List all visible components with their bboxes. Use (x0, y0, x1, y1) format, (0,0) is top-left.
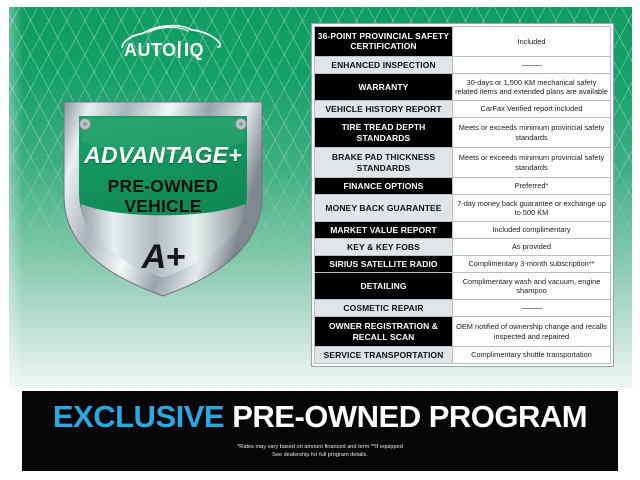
banner-title-highlight: EXCLUSIVE (53, 399, 224, 434)
feature-value: ——— (453, 56, 611, 73)
shield-subtitle-line1: PRE-OWNED (48, 176, 278, 196)
promo-flyer: AUTO IQ (0, 0, 640, 480)
table-row: 36-POINT PROVINCIAL SAFETY CERTIFICATION… (315, 27, 611, 57)
shield-title: ADVANTAGE+ (48, 142, 278, 169)
feature-value: As provided (453, 239, 611, 256)
feature-label: SIRIUS SATELLITE RADIO (315, 255, 453, 272)
feature-value: Meets or exceeds minimum provincial safe… (453, 148, 611, 178)
table-row: MARKET VALUE REPORTIncluded complimentar… (315, 222, 611, 239)
table-row: KEY & KEY FOBSAs provided (315, 239, 611, 256)
feature-label: VEHICLE HISTORY REPORT (315, 101, 453, 118)
table-row: COSMETIC REPAIR——— (315, 300, 611, 317)
table-row: SIRIUS SATELLITE RADIOComplimentary 3-mo… (315, 255, 611, 272)
a-plus-grade-badge: A+ (48, 238, 278, 277)
fineprint-line-1: *Rates may vary based on amount financed… (22, 443, 618, 451)
auto-iq-logo-graphic: AUTO IQ (108, 16, 232, 64)
feature-label: OWNER REGISTRATION & RECALL SCAN (315, 317, 453, 347)
feature-value: ——— (453, 300, 611, 317)
table-row: VEHICLE HISTORY REPORTCarFax Verified re… (315, 101, 611, 118)
feature-label: MONEY BACK GUARANTEE (315, 194, 453, 221)
feature-label: ENHANCED INSPECTION (315, 56, 453, 73)
banner-title-rest: PRE-OWNED PROGRAM (232, 399, 587, 434)
spec-table: 36-POINT PROVINCIAL SAFETY CERTIFICATION… (314, 26, 611, 364)
feature-label: BRAKE PAD THICKNESS STANDARDS (315, 148, 453, 178)
program-features-table: 36-POINT PROVINCIAL SAFETY CERTIFICATION… (311, 23, 614, 367)
feature-label: COSMETIC REPAIR (315, 300, 453, 317)
fineprint-line-2: See dealership for full program details. (22, 451, 618, 459)
table-row: WARRANTY30-days or 1,500 KM mechanical s… (315, 73, 611, 100)
banner-title: EXCLUSIVE PRE-OWNED PROGRAM (22, 399, 618, 435)
bottom-banner: EXCLUSIVE PRE-OWNED PROGRAM *Rates may v… (22, 391, 618, 471)
feature-value: 30-days or 1,500 KM mechanical safety re… (453, 73, 611, 100)
feature-value: CarFax Verified report included (453, 101, 611, 118)
feature-value: Complimentary 3-month subscription** (453, 255, 611, 272)
table-row: ENHANCED INSPECTION——— (315, 56, 611, 73)
svg-text:IQ: IQ (184, 40, 204, 60)
feature-value: OEM notified of ownership change and rec… (453, 317, 611, 347)
feature-label: MARKET VALUE REPORT (315, 222, 453, 239)
feature-value: Included (453, 27, 611, 57)
feature-value: Meets or exceeds minimum provincial safe… (453, 118, 611, 148)
feature-label: TIRE TREAD DEPTH STANDARDS (315, 118, 453, 148)
svg-text:AUTO: AUTO (124, 40, 177, 60)
feature-label: DETAILING (315, 272, 453, 299)
table-row: OWNER REGISTRATION & RECALL SCANOEM noti… (315, 317, 611, 347)
feature-value: Preferred* (453, 178, 611, 195)
feature-label: KEY & KEY FOBS (315, 239, 453, 256)
table-row: DETAILINGComplimentary wash and vacuum, … (315, 272, 611, 299)
shield-subtitle: PRE-OWNED VEHICLE (48, 176, 278, 216)
feature-label: FINANCE OPTIONS (315, 178, 453, 195)
shield-subtitle-line2: VEHICLE (48, 196, 278, 216)
table-row: FINANCE OPTIONSPreferred* (315, 178, 611, 195)
advantage-plus-shield-badge: ADVANTAGE+ PRE-OWNED VEHICLE A+ (48, 88, 278, 300)
auto-iq-logo: AUTO IQ (108, 16, 232, 64)
feature-value: Complimentary wash and vacuum, engine sh… (453, 272, 611, 299)
feature-label: SERVICE TRANSPORTATION (315, 347, 453, 364)
edge-sheen (9, 7, 23, 388)
feature-value: Complimentary shuttle transportation (453, 347, 611, 364)
feature-value: 7-day money back guarantee or exchange u… (453, 194, 611, 221)
table-row: MONEY BACK GUARANTEE7-day money back gua… (315, 194, 611, 221)
table-row: TIRE TREAD DEPTH STANDARDSMeets or excee… (315, 118, 611, 148)
table-row: BRAKE PAD THICKNESS STANDARDSMeets or ex… (315, 148, 611, 178)
table-row: SERVICE TRANSPORTATIONComplimentary shut… (315, 347, 611, 364)
banner-fineprint: *Rates may vary based on amount financed… (22, 443, 618, 459)
feature-label: WARRANTY (315, 73, 453, 100)
feature-value: Included complimentary (453, 222, 611, 239)
feature-label: 36-POINT PROVINCIAL SAFETY CERTIFICATION (315, 27, 453, 57)
